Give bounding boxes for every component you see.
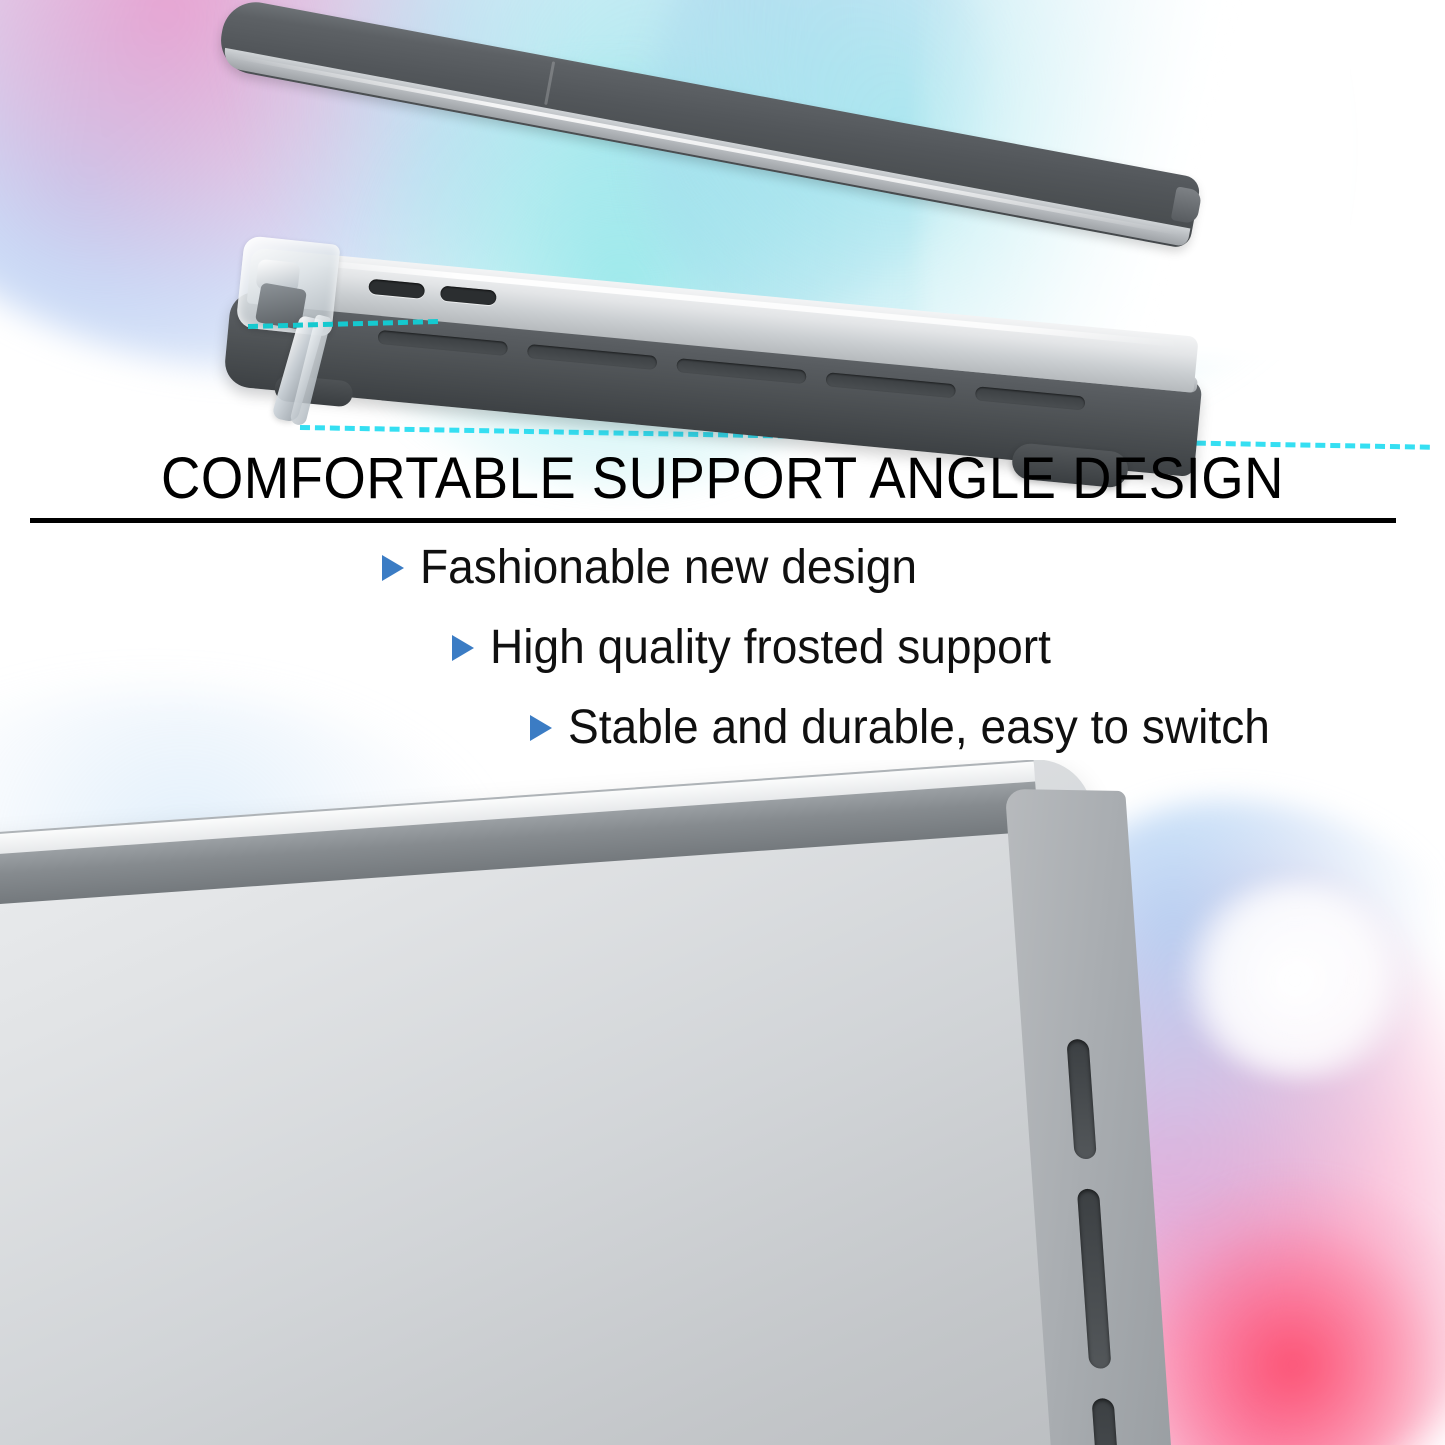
feature-label: High quality frosted support bbox=[490, 620, 1051, 676]
usb-c-port bbox=[440, 285, 497, 305]
case-underside-panel bbox=[0, 760, 1141, 1445]
case-edge-cutout bbox=[1066, 1039, 1096, 1159]
feature-item: Stable and durable, easy to switch bbox=[0, 700, 1445, 756]
product-image-canvas: COMFORTABLE SUPPORT ANGLE DESIGN Fashion… bbox=[0, 0, 1445, 1445]
feature-list: Fashionable new design High quality fros… bbox=[0, 540, 1445, 780]
laptop-side-profile-with-kickstand bbox=[0, 0, 1445, 450]
triangle-right-icon bbox=[530, 715, 552, 741]
case-groove bbox=[975, 386, 1086, 410]
case-edge-cutout bbox=[1091, 1398, 1124, 1445]
feature-item: Fashionable new design bbox=[0, 540, 1445, 596]
lid-silver-edge bbox=[222, 48, 1191, 247]
case-edge-cutout bbox=[1077, 1189, 1112, 1369]
page-title: COMFORTABLE SUPPORT ANGLE DESIGN bbox=[43, 450, 1401, 508]
feature-label: Stable and durable, easy to switch bbox=[568, 700, 1270, 756]
laptop-case-vent-and-kickstand-closeup bbox=[0, 760, 1445, 1445]
usb-c-port bbox=[368, 279, 425, 299]
case-groove bbox=[377, 330, 508, 356]
lid-highlight bbox=[229, 54, 1181, 236]
case-groove bbox=[527, 344, 658, 370]
title-divider bbox=[30, 518, 1396, 523]
triangle-right-icon bbox=[382, 555, 404, 581]
feature-item: High quality frosted support bbox=[0, 620, 1445, 676]
laptop-case-lid bbox=[215, 0, 1201, 249]
triangle-right-icon bbox=[452, 635, 474, 661]
feature-label: Fashionable new design bbox=[420, 540, 917, 596]
lid-tip bbox=[1171, 186, 1203, 224]
case-groove bbox=[825, 372, 956, 398]
case-groove bbox=[676, 358, 807, 384]
